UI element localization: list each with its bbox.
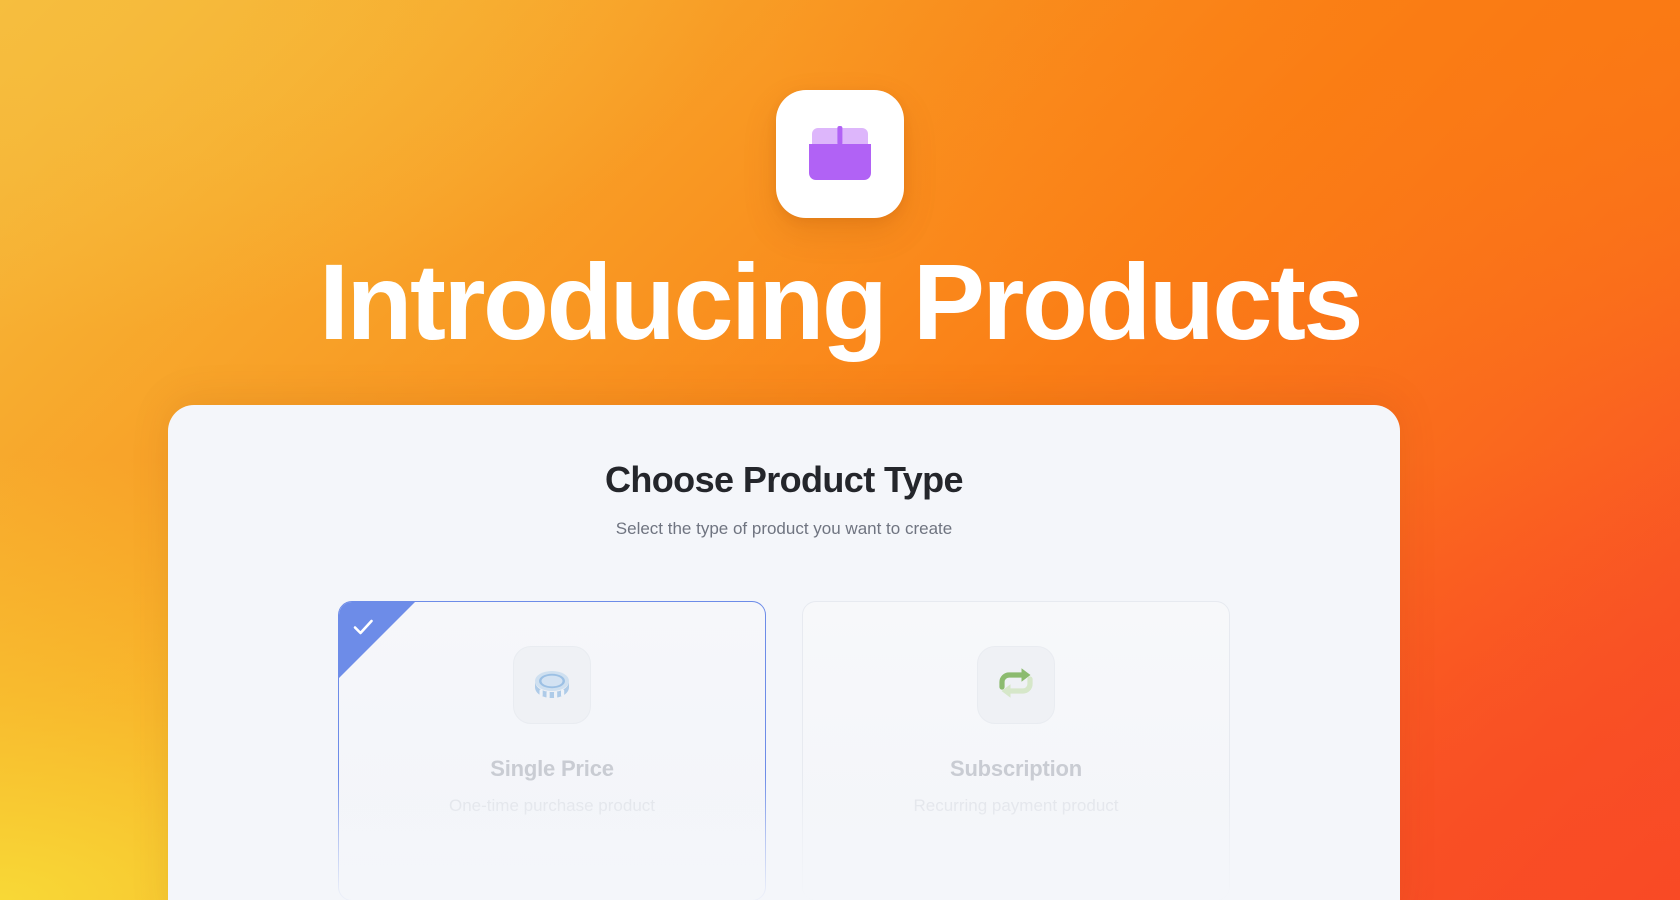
coin-icon <box>529 660 575 711</box>
card-title: Subscription <box>950 756 1082 782</box>
panel-subheading: Select the type of product you want to c… <box>168 519 1400 539</box>
panel-heading: Choose Product Type <box>168 459 1400 501</box>
app-icon-tile <box>776 90 904 218</box>
card-description: Recurring payment product <box>913 796 1118 816</box>
card-title: Single Price <box>490 756 614 782</box>
product-type-card-list: Single Price One-time purchase product <box>168 601 1400 900</box>
hero-section: Introducing Products Choose Product Type… <box>0 0 1680 900</box>
recurring-arrows-icon <box>993 660 1039 711</box>
product-type-panel: Choose Product Type Select the type of p… <box>168 405 1400 900</box>
check-icon <box>350 614 376 640</box>
product-type-card-single-price[interactable]: Single Price One-time purchase product <box>338 601 766 900</box>
package-box-icon <box>802 116 878 192</box>
card-icon-tile <box>977 646 1055 724</box>
card-description: One-time purchase product <box>449 796 655 816</box>
selected-corner-badge <box>339 602 415 678</box>
product-type-card-subscription[interactable]: Subscription Recurring payment product <box>802 601 1230 900</box>
card-icon-tile <box>513 646 591 724</box>
page-title: Introducing Products <box>319 242 1361 363</box>
